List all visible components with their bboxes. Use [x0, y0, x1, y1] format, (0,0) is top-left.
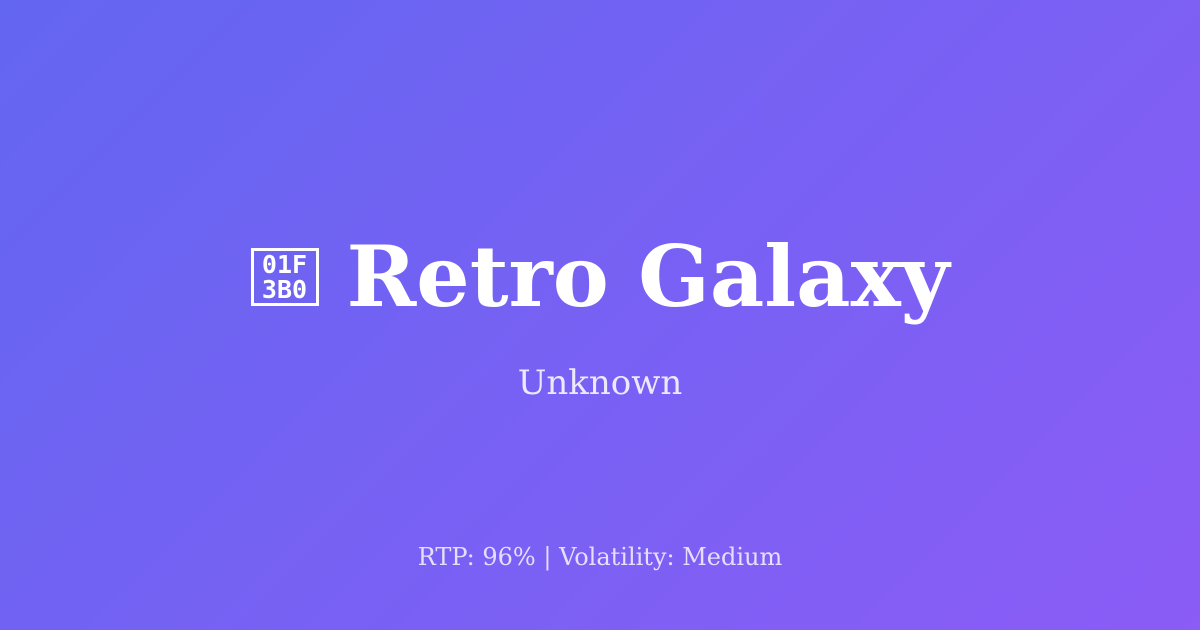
tofu-hex-line-bottom: 3B0: [262, 277, 307, 302]
page-title: Retro Galaxy: [347, 232, 950, 321]
slot-machine-emoji-icon: 01F 3B0: [251, 248, 319, 306]
og-preview-card: 01F 3B0 Retro Galaxy Unknown RTP: 96% | …: [0, 0, 1200, 630]
tofu-hex-line-top: 01F: [262, 252, 307, 277]
page-subtitle: Unknown: [0, 363, 1200, 404]
game-meta-line: RTP: 96% | Volatility: Medium: [0, 542, 1200, 572]
title-row: 01F 3B0 Retro Galaxy: [0, 232, 1200, 321]
